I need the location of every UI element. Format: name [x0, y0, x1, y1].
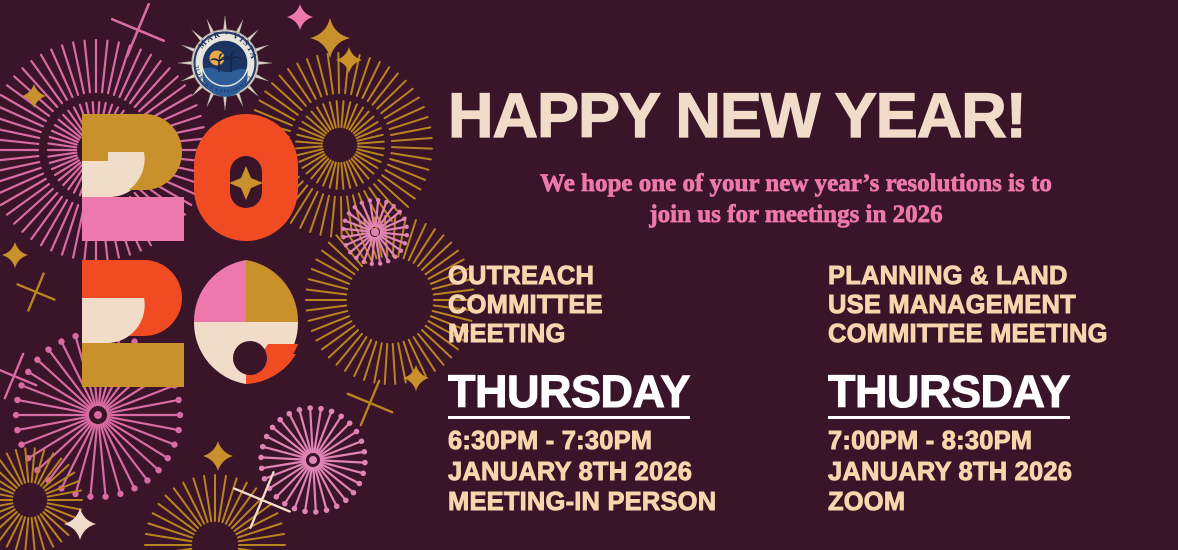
- meeting-title-line: PLANNING & LAND: [828, 262, 1178, 291]
- meeting-time: 7:00PM - 8:30PM: [828, 426, 1178, 457]
- gold-rayburst-bottomleft-edge: [0, 448, 82, 550]
- meeting-title: PLANNING & LAND USE MANAGEMENT COMMITTEE…: [828, 262, 1178, 349]
- mar-vista-community-council-logo: MAR · VISTA COMMUNITY COUNCIL: [176, 14, 274, 112]
- subtitle-line-2: join us for meetings in 2026: [438, 199, 1154, 230]
- meeting-day: THURSDAY: [448, 369, 690, 419]
- meeting-title: OUTREACH COMMITTEE MEETING: [448, 262, 818, 349]
- meeting-title-line: COMMITTEE: [448, 291, 818, 320]
- digit-6-bottom: [194, 260, 298, 384]
- banner-content: HAPPY NEW YEAR! We hope one of your new …: [438, 0, 1178, 550]
- year-2026-graphic: [78, 108, 344, 426]
- gold-line-star-right: [348, 381, 392, 425]
- meeting-day: THURSDAY: [828, 369, 1070, 419]
- year-2026-svg: [78, 108, 344, 426]
- digit-2-top: [82, 114, 184, 241]
- meeting-title-line: USE MANAGEMENT: [828, 291, 1178, 320]
- meeting-card-planning-land-use: PLANNING & LAND USE MANAGEMENT COMMITTEE…: [828, 262, 1178, 518]
- digit-6-counter: [233, 341, 267, 375]
- meeting-title-line: MEETING: [448, 320, 818, 349]
- meeting-title-line: COMMITTEE MEETING: [828, 320, 1178, 349]
- meeting-card-outreach: OUTREACH COMMITTEE MEETING THURSDAY 6:30…: [448, 262, 818, 518]
- gold-rayburst-bottom: [145, 475, 285, 550]
- meeting-location: MEETING-IN PERSON: [448, 487, 818, 518]
- page-title: HAPPY NEW YEAR!: [448, 85, 1178, 148]
- new-year-meetings-banner: MAR · VISTA COMMUNITY COUNCIL: [0, 0, 1178, 550]
- meeting-date: JANUARY 8TH 2026: [448, 457, 818, 488]
- gold-line-star-left: [18, 274, 55, 311]
- digit-2-bottom: [82, 260, 184, 387]
- meeting-details: 7:00PM - 8:30PM JANUARY 8TH 2026 ZOOM: [828, 426, 1178, 518]
- subtitle: We hope one of your new year’s resolutio…: [438, 168, 1154, 231]
- meeting-details: 6:30PM - 7:30PM JANUARY 8TH 2026 MEETING…: [448, 426, 818, 518]
- meeting-location: ZOOM: [828, 487, 1178, 518]
- digit-0-top: [194, 114, 298, 241]
- cream-line-star-bottom: [234, 472, 289, 527]
- meeting-title-line: OUTREACH: [448, 262, 818, 291]
- subtitle-line-1: We hope one of your new year’s resolutio…: [438, 168, 1154, 199]
- pink-dandelion-right: [341, 198, 409, 266]
- pink-line-star-top: [112, 4, 164, 56]
- logo-svg: MAR · VISTA COMMUNITY COUNCIL: [176, 14, 274, 112]
- meeting-time: 6:30PM - 7:30PM: [448, 426, 818, 457]
- pink-line-star-left: [0, 354, 36, 398]
- meeting-date: JANUARY 8TH 2026: [828, 457, 1178, 488]
